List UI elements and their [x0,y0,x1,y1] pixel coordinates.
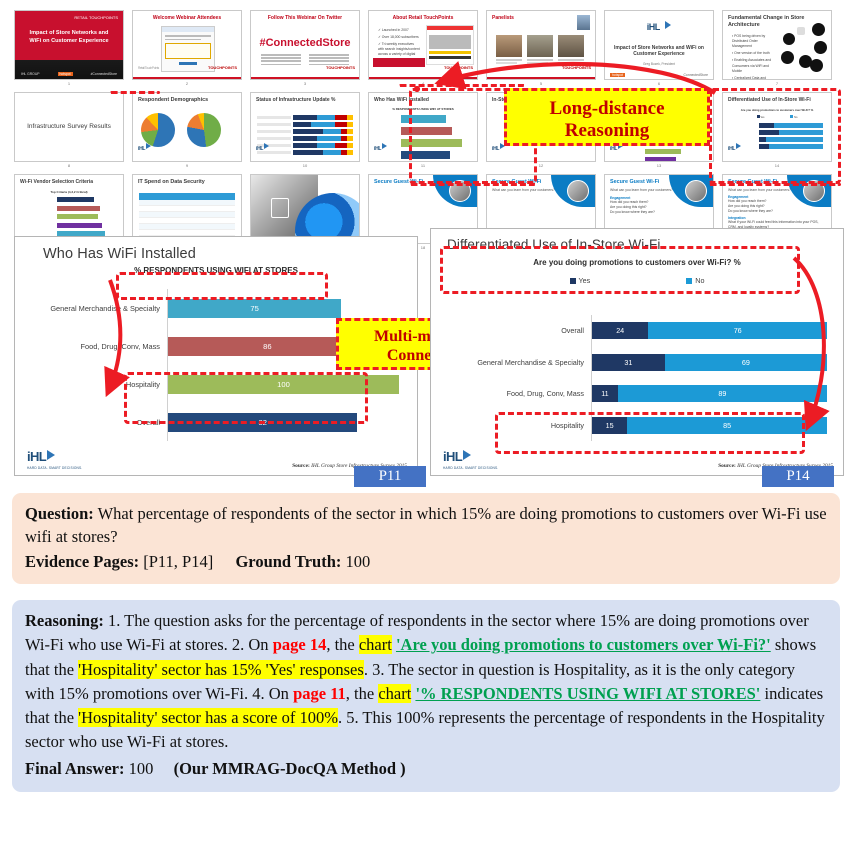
slide-number-3: 3 [250,80,360,87]
reasoning-quote-1: 'Are you doing promotions to customers o… [396,635,771,654]
slide-thumbnail-6[interactable]: iHL Impact of Store Networks and WiFi on… [604,10,714,80]
question-box: Question: What percentage of respondents… [12,493,840,584]
final-answer-value: 100 [124,759,153,778]
slide-number-7: 7 [722,80,832,87]
slide-1-logos: IHL GROUP hotspot #ConnectedStore [21,72,117,76]
evidence-line: Evidence Pages: [P11, P14] Ground Truth:… [25,550,827,573]
p11-logo-tagline: HARD DATA. SMART DECISIONS. [27,466,82,470]
slide-thumbnail-15[interactable]: Wi-Fi Vendor Selection Criteria Top Crit… [14,174,124,244]
slide-4-website-image [426,25,474,65]
slide-11-bar-chart [401,115,467,149]
slide-number-2: 2 [132,80,242,87]
p14-ihl-logo-icon: iHL HARD DATA. SMART DECISIONS. [443,448,498,470]
slide-8-title: Infrastructure Survey Results [15,93,123,161]
p14-legend-yes-label: Yes [579,276,591,285]
slide-thumbnail-11[interactable]: Who Has WiFi Installed % RESPONDENTS USI… [368,92,478,162]
p11-source-label: Source: [292,463,310,469]
p14-yes-3: 15 [592,417,627,434]
p14-logo-tagline: HARD DATA. SMART DECISIONS. [443,466,498,470]
slide-number-14: 14 [722,162,832,169]
p14-legend: Yes No [431,276,843,285]
slide-6-ihl-logo-icon: iHL [605,17,713,35]
long-distance-line2: Reasoning [507,120,707,142]
slide-number-11: 11 [368,162,478,169]
p14-no-1: 69 [665,354,827,371]
reasoning-text: Reasoning: 1. The question asks for the … [25,609,827,755]
slide-10-stacked-chart [257,115,353,149]
ground-truth-label: Ground Truth: [235,552,341,571]
reasoning-box: Reasoning: 1. The question asks for the … [12,600,840,792]
slide-2-screenshot [161,26,215,72]
slide-14-subtitle: Are you doing promotions to customers ov… [723,108,831,112]
touchpoints-logo-icon: RETAIL TOUCHPOINTS [74,15,118,20]
slide-number-10: 10 [250,162,360,169]
slide-number-6: 6 [604,80,714,87]
p14-cat-3: Hospitality [449,421,591,430]
slide-1-title: Impact of Store Networks and WiFi on Cus… [15,29,123,45]
p14-stacked-chart: Overall 24 76 General Merchandise & Spec… [449,315,827,441]
slide-10-ihl-logo-icon: iHL [256,143,269,152]
slide-19-photo-icon [567,180,589,202]
slide-5-logo-icon: TOUCHPOINTS [562,65,591,70]
p14-bar-row: Hospitality 15 85 [449,410,827,442]
p14-title: Differentiated Use of In-Store Wi-Fi [431,229,843,252]
slide-3-hashtag: #ConnectedStore [251,37,359,49]
slide-3-logo-icon: TOUCHPOINTS [326,65,355,70]
p14-legend-no: No [686,276,704,285]
slide-number-12: 12 [486,162,596,169]
slide-11-title: Who Has WiFi Installed [369,93,477,105]
slide-number-4: 4 [368,80,478,87]
slide-3-title: Follow This Webinar On Twitter [251,11,359,23]
p14-legend-yes: Yes [570,276,591,285]
slide-thumbnail-4[interactable]: About Retail TouchPoints ✓ Launched in 2… [368,10,478,80]
slide-21-photo-icon [803,180,825,202]
slide-11-subtitle: % RESPONDENTS USING WIFI AT STORES [369,107,477,111]
slide-thumbnail-3[interactable]: Follow This Webinar On Twitter #Connecte… [250,10,360,80]
slide-thumbnail-14[interactable]: Differentiated Use of In-Store Wi-Fi Are… [722,92,832,162]
question-line: Question: What percentage of respondents… [25,502,827,549]
p11-bar-0: 75 [168,299,341,318]
long-distance-reasoning-callout: Long-distance Reasoning [504,88,710,146]
reasoning-s2: , the [326,635,359,654]
p11-cat-2: Hospitality [45,380,167,389]
reasoning-label: Reasoning: [25,611,104,630]
slide-thumbnail-9[interactable]: Respondent Demographics iHL [132,92,242,162]
slide-number-8: 8 [14,162,124,169]
p14-legend-no-label: No [695,276,704,285]
slide-4-accent-bar [369,77,477,79]
slide-thumbnail-2[interactable]: Welcome Webinar Attendees TOUCHPOINTS Re… [132,10,242,80]
p14-no-2: 89 [618,385,827,402]
slide-15-bar-chart [57,197,115,231]
slide-thumbnail-7[interactable]: Fundamental Change in Store Architecture… [722,10,832,80]
p14-cat-0: Overall [449,326,591,335]
p11-cat-1: Food, Drug, Conv, Mass [45,342,167,351]
question-label: Question: [25,504,94,523]
slide-thumbnail-8[interactable]: Infrastructure Survey Results [14,92,124,162]
slide-14-ihl-logo-icon: iHL [728,143,741,152]
reasoning-highlight-2: 'Hospitality' sector has a score of 100% [78,708,338,727]
slide-number-1: 1 [14,80,124,87]
slide-thumbnail-5[interactable]: Panelists TOUCHPOINTS [486,10,596,80]
slide-14-title: Differentiated Use of In-Store Wi-Fi [723,93,831,105]
thumbnail-row-2: Infrastructure Survey Results 8 Responde… [14,92,838,169]
reasoning-highlight-1: 'Hospitality' sector has 15% 'Yes' respo… [78,660,364,679]
slide-thumbnail-grid: RETAIL TOUCHPOINTS Impact of Store Netwo… [0,0,852,232]
slide-5-accent-bar [487,77,595,79]
p14-source-label: Source: [718,463,736,469]
final-answer-line: Final Answer: 100 (Our MMRAG-DocQA Metho… [25,757,827,781]
slide-5-moderator-photo [577,15,590,30]
slide-6-sponsor-logos: hotspot ConnectedStore [610,73,708,77]
slide-7-network-diagram-icon [781,23,827,75]
p14-bar-row: Food, Drug, Conv, Mass 11 89 [449,378,827,410]
p14-cat-1: General Merchandise & Specialty [449,358,591,367]
question-text: What percentage of respondents of the se… [25,504,827,546]
slide-16-title: IT Spend on Data Security [133,175,241,188]
legend-swatch-yes [570,278,576,284]
reasoning-s6: , the [346,684,379,703]
slide-4-title: About Retail TouchPoints [369,11,477,23]
reasoning-chart-kw-1: chart [359,635,392,654]
p14-yes-1: 31 [592,354,665,371]
p14-cat-2: Food, Drug, Conv, Mass [449,389,591,398]
p14-no-3: 85 [627,417,827,434]
reasoning-quote-2: '% RESPONDENTS USING WIFI AT STORES' [415,684,760,703]
p11-cat-0: General Merchandise & Specialty [45,304,167,313]
slide-2-accent-bar [133,77,241,79]
slide-thumbnail-16[interactable]: IT Spend on Data Security [132,174,242,244]
reasoning-page14-ref: page 14 [273,635,327,654]
slide-18-photo-icon [449,180,471,202]
ground-truth-value: 100 [341,552,370,571]
slide-2-title: Welcome Webinar Attendees [133,11,241,23]
p14-no-0: 76 [648,322,827,339]
slide-number-5: 5 [486,80,596,87]
slide-2-footer-note: Retail TouchPoints [138,66,159,70]
slide-9-pie-charts [141,113,221,147]
slide-14-stacked-chart [759,123,823,149]
p14-bar-row: Overall 24 76 [449,315,827,347]
slide-thumbnail-1[interactable]: RETAIL TOUCHPOINTS Impact of Store Netwo… [14,10,124,80]
p14-logo-wordmark: iHL [443,449,462,464]
slide-number-9: 9 [132,162,242,169]
p11-ihl-logo-icon: iHL HARD DATA. SMART DECISIONS. [27,448,82,470]
slide-15-title: Wi-Fi Vendor Selection Criteria [15,175,123,187]
lock-icon [271,198,289,218]
p11-chart-title: % RESPONDENTS USING WIFI AT STORES [15,266,417,275]
slide-16-table [139,193,235,236]
slide-number-13: 13 [604,162,714,169]
evidence-value: [P11, P14] [139,552,213,571]
slide-5-panelist-photos [496,35,584,57]
p11-bar-row: Hospitality 100 [45,365,399,403]
slide-20-photo-icon [685,180,707,202]
p14-bar-row: General Merchandise & Specialty 31 69 [449,347,827,379]
p11-cat-3: Overall [45,418,167,427]
slide-9-title: Respondent Demographics [133,93,241,106]
reasoning-page11-ref: page 11 [293,684,346,703]
p11-bar-3: 82 [168,413,357,432]
slide-2-logo-icon: TOUCHPOINTS [208,65,237,70]
slide-15-subtitle: Top Criteria (4,3,2 Critical) [15,190,123,194]
p14-yes-2: 11 [592,385,618,402]
slide-3-accent-bar [251,77,359,79]
p14-subtitle: Are you doing promotions to customers ov… [431,258,843,267]
final-answer-label: Final Answer: [25,759,124,778]
p11-bar-row: Overall 82 [45,403,399,441]
long-distance-line1: Long-distance [507,98,707,120]
p14-yes-0: 24 [592,322,648,339]
method-name: (Our MMRAG-DocQA Method ) [174,759,406,778]
reasoning-chart-kw-2: chart [378,684,411,703]
thumbnail-row-1: RETAIL TOUCHPOINTS Impact of Store Netwo… [14,10,838,87]
slide-thumbnail-10[interactable]: Status of Infrastructure Update % iHL [250,92,360,162]
p11-bar-2: 100 [168,375,399,394]
slide-6-presenter: Greg Buzek, President [605,62,713,66]
p14-page-tag: P14 [762,466,834,487]
p11-logo-wordmark: iHL [27,449,46,464]
p11-title: Who Has WiFi Installed [15,237,417,262]
slide-thumbnail-17[interactable] [250,174,360,244]
slide-9-ihl-logo-icon: iHL [138,143,151,152]
slide-14-legend: Yes No [723,115,831,119]
evidence-label: Evidence Pages: [25,552,139,571]
legend-swatch-no [686,278,692,284]
slide-p14[interactable]: Differentiated Use of In-Store Wi-Fi Are… [430,228,844,476]
slide-4-logo-icon: TOUCHPOINTS [444,65,473,70]
slide-6-title: Impact of Store Networks and WiFi on Cus… [605,41,713,60]
slide-10-title: Status of Infrastructure Update % [251,93,359,105]
slide-7-bullets: ▪ POS being driven by Distributed Order … [727,33,781,80]
slide-11-ihl-logo-icon: iHL [374,143,387,152]
slide-4-cta-banner [373,58,425,67]
page-root: RETAIL TOUCHPOINTS Impact of Store Netwo… [0,0,852,868]
p11-page-tag: P11 [354,466,426,487]
